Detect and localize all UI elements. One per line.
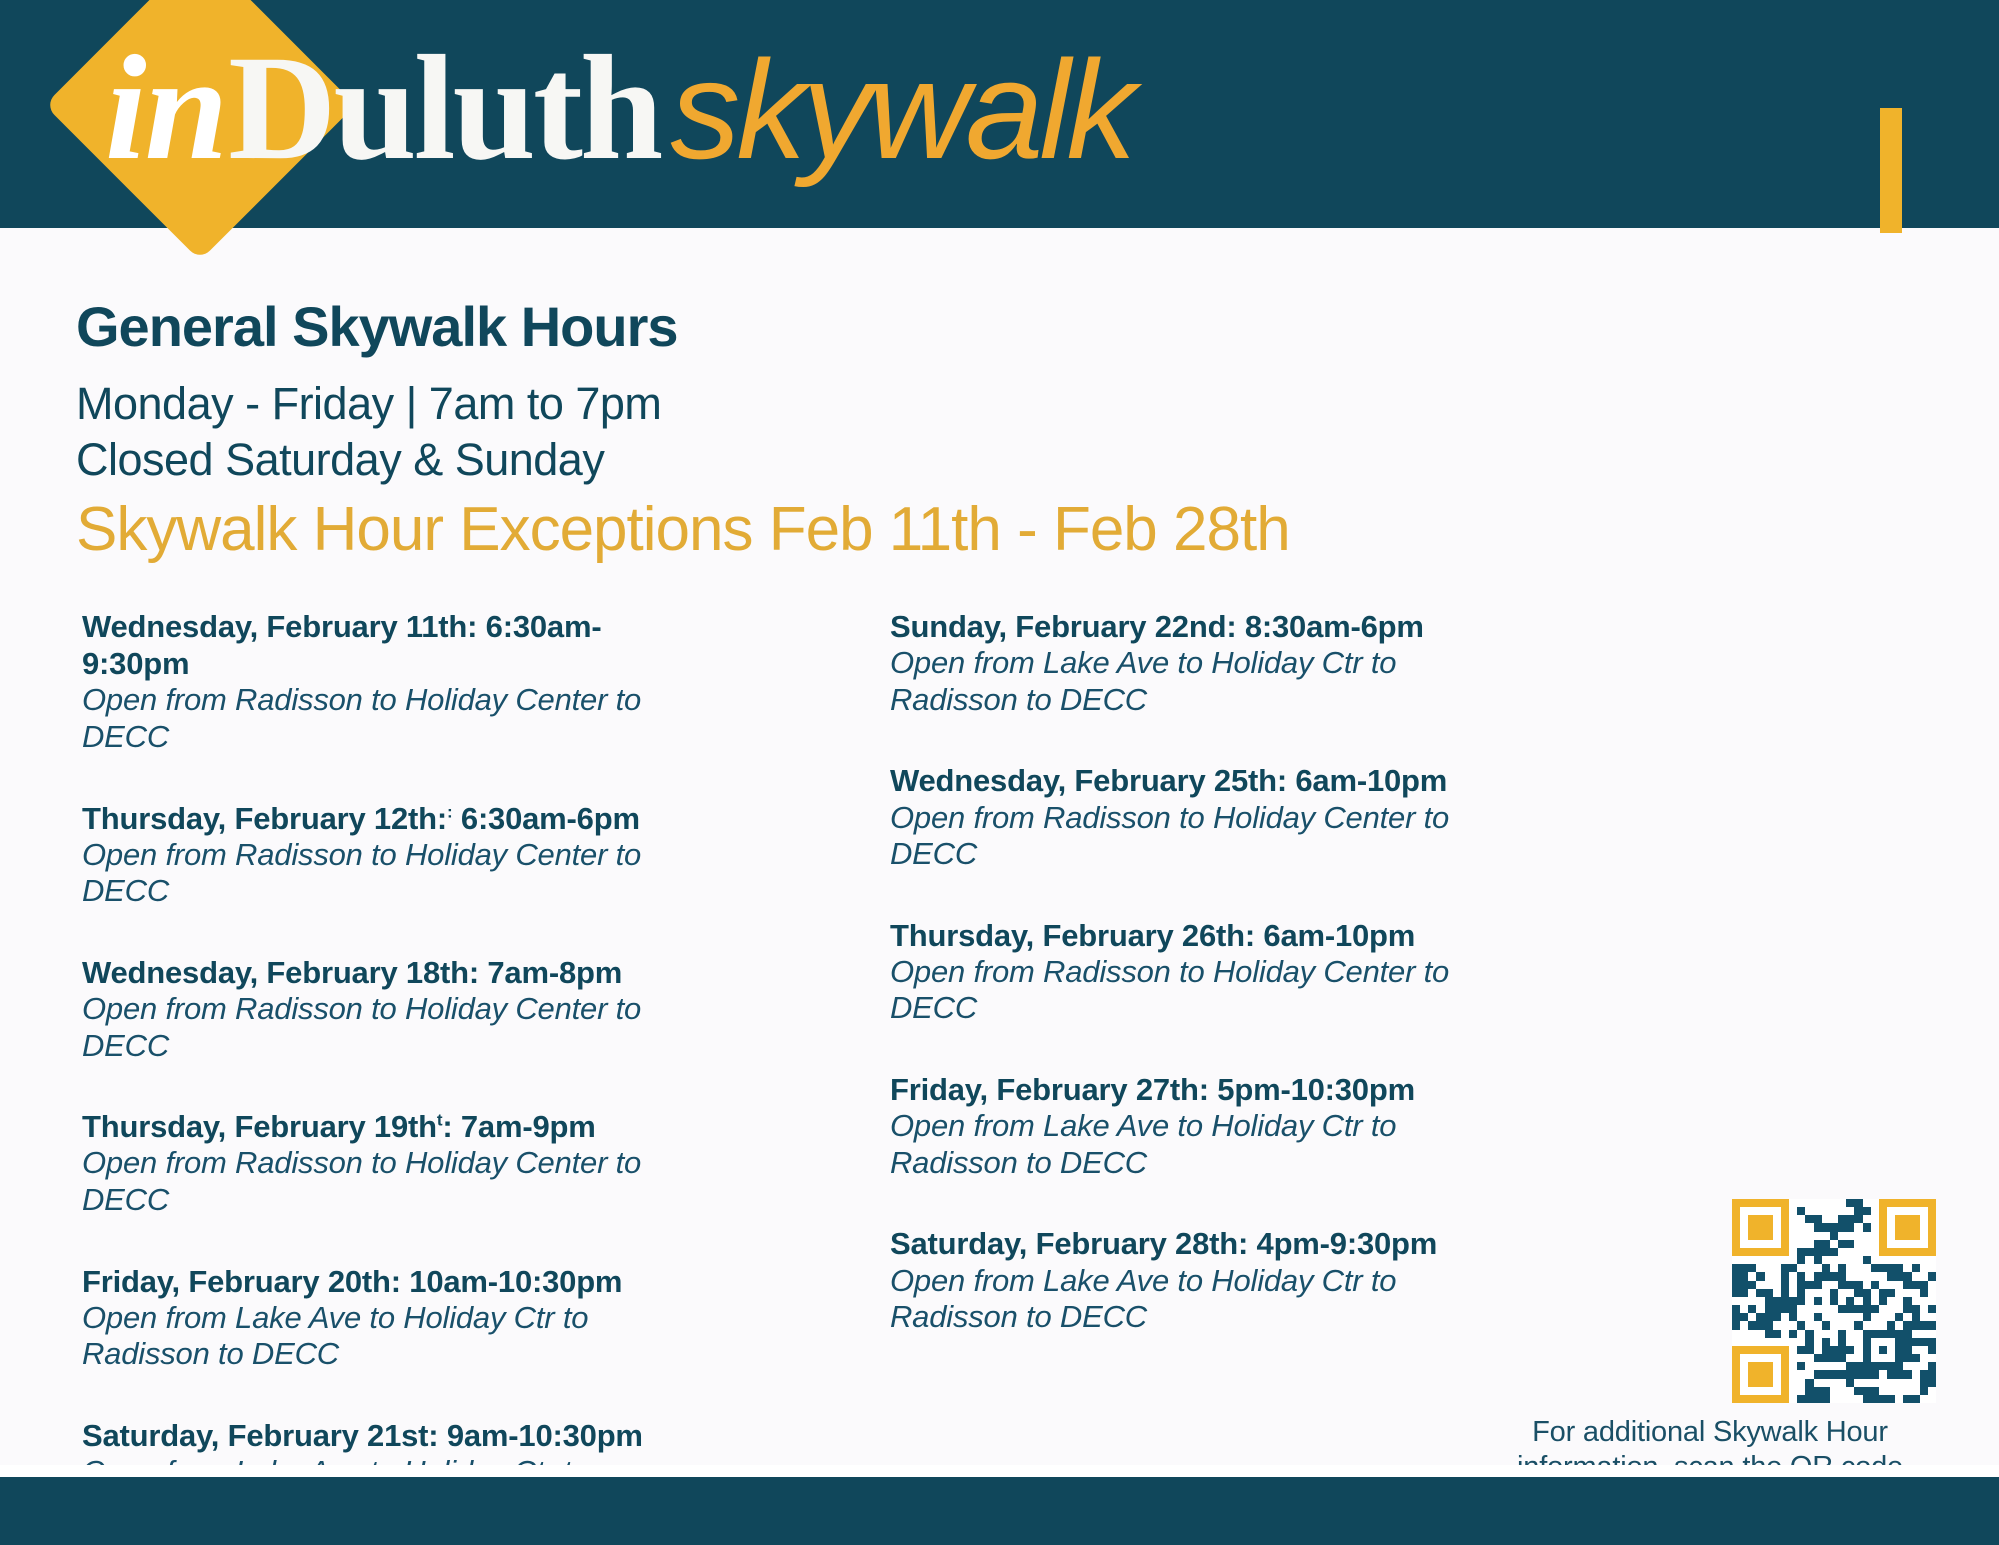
qr-module	[1895, 1248, 1903, 1256]
qr-module	[1805, 1321, 1813, 1329]
qr-module	[1920, 1264, 1928, 1272]
qr-module	[1756, 1354, 1764, 1362]
qr-module	[1740, 1199, 1748, 1207]
qr-module	[1781, 1272, 1789, 1280]
qr-module	[1748, 1272, 1756, 1280]
qr-module	[1781, 1370, 1789, 1378]
qr-module	[1797, 1362, 1805, 1370]
qr-module	[1822, 1215, 1830, 1223]
qr-module	[1805, 1207, 1813, 1215]
qr-module	[1773, 1330, 1781, 1338]
qr-module	[1765, 1272, 1773, 1280]
qr-module	[1863, 1354, 1871, 1362]
qr-module	[1797, 1281, 1805, 1289]
qr-module	[1732, 1362, 1740, 1370]
qr-module	[1928, 1207, 1936, 1215]
qr-module	[1928, 1281, 1936, 1289]
qr-module	[1887, 1232, 1895, 1240]
qr-module	[1912, 1199, 1920, 1207]
qr-code-icon[interactable]	[1732, 1199, 1936, 1403]
qr-module	[1887, 1321, 1895, 1329]
exception-day-hours: Friday, February 20th: 10am-10:30pm	[82, 1263, 692, 1300]
qr-module	[1732, 1232, 1740, 1240]
qr-module	[1903, 1395, 1911, 1403]
qr-module	[1863, 1387, 1871, 1395]
qr-module	[1830, 1362, 1838, 1370]
qr-module	[1903, 1207, 1911, 1215]
qr-module	[1838, 1330, 1846, 1338]
qr-module	[1805, 1248, 1813, 1256]
header-accent-bar	[1880, 108, 1902, 233]
qr-module	[1773, 1264, 1781, 1272]
qr-module	[1871, 1379, 1879, 1387]
qr-module	[1895, 1395, 1903, 1403]
qr-module	[1879, 1346, 1887, 1354]
qr-module	[1748, 1387, 1756, 1395]
exceptions-title: Skywalk Hour Exceptions Feb 11th - Feb 2…	[76, 494, 1290, 565]
qr-module	[1887, 1379, 1895, 1387]
qr-module	[1830, 1248, 1838, 1256]
qr-module	[1748, 1305, 1756, 1313]
qr-module	[1912, 1338, 1920, 1346]
qr-module	[1830, 1240, 1838, 1248]
qr-module	[1903, 1321, 1911, 1329]
qr-module	[1879, 1379, 1887, 1387]
qr-module	[1895, 1321, 1903, 1329]
qr-module	[1846, 1387, 1854, 1395]
qr-module	[1814, 1346, 1822, 1354]
exception-day-hours: Saturday, February 28th: 4pm-9:30pm	[890, 1225, 1530, 1262]
exception-day-hours: Thursday, February 12th:: 6:30am-6pm	[82, 800, 692, 837]
qr-module	[1797, 1264, 1805, 1272]
qr-module	[1920, 1281, 1928, 1289]
qr-module	[1830, 1264, 1838, 1272]
qr-module	[1895, 1289, 1903, 1297]
qr-module	[1797, 1330, 1805, 1338]
qr-module	[1895, 1199, 1903, 1207]
qr-module	[1879, 1338, 1887, 1346]
qr-module	[1846, 1313, 1854, 1321]
qr-module	[1863, 1338, 1871, 1346]
qr-module	[1863, 1395, 1871, 1403]
qr-module	[1789, 1370, 1797, 1378]
qr-module	[1863, 1248, 1871, 1256]
qr-module	[1928, 1370, 1936, 1378]
qr-module	[1895, 1272, 1903, 1280]
qr-module	[1879, 1370, 1887, 1378]
exception-route: Open from Lake Ave to Holiday Ctr to Rad…	[890, 645, 1530, 718]
qr-module	[1838, 1338, 1846, 1346]
logo-skywalk-text: skywalk	[670, 29, 1132, 191]
exception-day-hours: Wednesday, February 18th: 7am-8pm	[82, 954, 692, 991]
qr-module	[1863, 1215, 1871, 1223]
qr-module	[1822, 1272, 1830, 1280]
qr-module	[1903, 1223, 1911, 1231]
qr-module	[1740, 1354, 1748, 1362]
qr-module	[1797, 1395, 1805, 1403]
qr-module	[1920, 1199, 1928, 1207]
qr-module	[1740, 1240, 1748, 1248]
qr-module	[1814, 1240, 1822, 1248]
qr-module	[1912, 1330, 1920, 1338]
qr-module	[1912, 1223, 1920, 1231]
qr-module	[1789, 1297, 1797, 1305]
qr-module	[1903, 1248, 1911, 1256]
qr-module	[1797, 1338, 1805, 1346]
qr-module	[1740, 1207, 1748, 1215]
qr-module	[1756, 1297, 1764, 1305]
qr-module	[1912, 1305, 1920, 1313]
qr-module	[1756, 1338, 1764, 1346]
qr-module	[1773, 1362, 1781, 1370]
exception-route: Open from Radisson to Holiday Center to …	[82, 682, 692, 755]
qr-module	[1830, 1297, 1838, 1305]
qr-module	[1846, 1289, 1854, 1297]
qr-module	[1830, 1232, 1838, 1240]
qr-module	[1863, 1313, 1871, 1321]
qr-module	[1748, 1370, 1756, 1378]
qr-module	[1887, 1264, 1895, 1272]
qr-module	[1740, 1215, 1748, 1223]
qr-module	[1928, 1395, 1936, 1403]
qr-module	[1740, 1248, 1748, 1256]
qr-module	[1797, 1256, 1805, 1264]
qr-module	[1805, 1305, 1813, 1313]
qr-module	[1740, 1338, 1748, 1346]
qr-module	[1871, 1305, 1879, 1313]
qr-module	[1789, 1264, 1797, 1272]
qr-module	[1732, 1289, 1740, 1297]
qr-module	[1740, 1330, 1748, 1338]
qr-module	[1871, 1338, 1879, 1346]
qr-module	[1756, 1264, 1764, 1272]
qr-module	[1822, 1248, 1830, 1256]
qr-module	[1920, 1256, 1928, 1264]
qr-module	[1805, 1240, 1813, 1248]
qr-module	[1765, 1256, 1773, 1264]
qr-module	[1863, 1370, 1871, 1378]
qr-module	[1879, 1240, 1887, 1248]
qr-module	[1903, 1330, 1911, 1338]
exception-day-hours: Wednesday, February 11th: 6:30am-9:30pm	[82, 608, 692, 682]
qr-module	[1928, 1305, 1936, 1313]
exception-route: Open from Radisson to Holiday Center to …	[890, 954, 1530, 1027]
qr-module	[1781, 1379, 1789, 1387]
qr-module	[1797, 1321, 1805, 1329]
qr-module	[1805, 1362, 1813, 1370]
qr-module	[1781, 1354, 1789, 1362]
qr-module	[1895, 1281, 1903, 1289]
qr-module	[1854, 1395, 1862, 1403]
qr-module	[1879, 1289, 1887, 1297]
qr-module	[1732, 1207, 1740, 1215]
qr-module	[1789, 1321, 1797, 1329]
qr-module	[1871, 1362, 1879, 1370]
qr-module	[1895, 1313, 1903, 1321]
qr-module	[1854, 1232, 1862, 1240]
qr-module	[1912, 1248, 1920, 1256]
qr-module	[1773, 1297, 1781, 1305]
qr-module	[1920, 1207, 1928, 1215]
qr-module	[1756, 1199, 1764, 1207]
qr-module	[1830, 1395, 1838, 1403]
qr-module	[1928, 1313, 1936, 1321]
qr-module	[1789, 1330, 1797, 1338]
qr-module	[1732, 1223, 1740, 1231]
qr-module	[1740, 1346, 1748, 1354]
qr-module	[1887, 1346, 1895, 1354]
qr-module	[1854, 1199, 1862, 1207]
qr-module	[1781, 1207, 1789, 1215]
qr-module	[1781, 1395, 1789, 1403]
qr-module	[1903, 1272, 1911, 1280]
qr-module	[1814, 1321, 1822, 1329]
qr-module	[1887, 1387, 1895, 1395]
qr-module	[1805, 1272, 1813, 1280]
qr-module	[1765, 1321, 1773, 1329]
qr-module	[1765, 1264, 1773, 1272]
qr-module	[1846, 1330, 1854, 1338]
qr-module	[1805, 1215, 1813, 1223]
qr-module	[1814, 1223, 1822, 1231]
qr-module	[1773, 1289, 1781, 1297]
qr-module	[1773, 1223, 1781, 1231]
qr-module	[1903, 1264, 1911, 1272]
qr-module	[1887, 1305, 1895, 1313]
qr-module	[1846, 1362, 1854, 1370]
qr-module	[1830, 1272, 1838, 1280]
qr-module	[1846, 1240, 1854, 1248]
qr-module	[1732, 1338, 1740, 1346]
qr-module	[1773, 1321, 1781, 1329]
qr-module	[1765, 1232, 1773, 1240]
qr-module	[1789, 1223, 1797, 1231]
exception-superscript: t	[437, 1111, 442, 1130]
qr-module	[1756, 1313, 1764, 1321]
qr-module	[1756, 1207, 1764, 1215]
qr-module	[1854, 1223, 1862, 1231]
qr-module	[1740, 1223, 1748, 1231]
qr-module	[1846, 1297, 1854, 1305]
qr-module	[1740, 1387, 1748, 1395]
qr-module	[1830, 1354, 1838, 1362]
qr-module	[1903, 1281, 1911, 1289]
qr-module	[1789, 1338, 1797, 1346]
qr-module	[1928, 1354, 1936, 1362]
qr-module	[1830, 1305, 1838, 1313]
qr-module	[1863, 1346, 1871, 1354]
qr-module	[1748, 1379, 1756, 1387]
qr-module	[1838, 1387, 1846, 1395]
qr-module	[1756, 1215, 1764, 1223]
qr-module	[1903, 1370, 1911, 1378]
brand-logo: inDuluthskywalk	[105, 22, 1132, 202]
logo-in-text: in	[105, 22, 226, 194]
qr-module	[1814, 1289, 1822, 1297]
qr-module	[1928, 1289, 1936, 1297]
qr-module	[1912, 1379, 1920, 1387]
qr-module	[1789, 1289, 1797, 1297]
qr-module	[1830, 1223, 1838, 1231]
qr-module	[1912, 1354, 1920, 1362]
qr-module	[1822, 1199, 1830, 1207]
qr-module	[1789, 1354, 1797, 1362]
qr-module	[1822, 1223, 1830, 1231]
qr-module	[1920, 1232, 1928, 1240]
qr-module	[1887, 1289, 1895, 1297]
qr-module	[1814, 1215, 1822, 1223]
qr-module	[1830, 1330, 1838, 1338]
exception-route: Open from Radisson to Holiday Center to …	[890, 800, 1530, 873]
qr-module	[1822, 1321, 1830, 1329]
qr-module	[1789, 1240, 1797, 1248]
qr-module	[1765, 1289, 1773, 1297]
qr-module	[1732, 1346, 1740, 1354]
qr-module	[1838, 1223, 1846, 1231]
qr-module	[1756, 1395, 1764, 1403]
exception-day-hours: Saturday, February 21st: 9am-10:30pm	[82, 1417, 692, 1454]
qr-module	[1765, 1199, 1773, 1207]
exception-day-hours: Thursday, February 26th: 6am-10pm	[890, 917, 1530, 954]
qr-module	[1805, 1297, 1813, 1305]
qr-module	[1920, 1215, 1928, 1223]
qr-module	[1773, 1370, 1781, 1378]
qr-module	[1903, 1346, 1911, 1354]
qr-module	[1920, 1387, 1928, 1395]
qr-module	[1895, 1354, 1903, 1362]
qr-module	[1928, 1338, 1936, 1346]
qr-module	[1920, 1289, 1928, 1297]
qr-module	[1732, 1256, 1740, 1264]
qr-module	[1822, 1354, 1830, 1362]
qr-module	[1920, 1305, 1928, 1313]
qr-module	[1895, 1346, 1903, 1354]
qr-module	[1895, 1256, 1903, 1264]
qr-module	[1781, 1281, 1789, 1289]
exception-route: Open from Lake Ave to Holiday Ctr to Rad…	[890, 1108, 1530, 1181]
qr-module	[1912, 1297, 1920, 1305]
qr-module	[1789, 1199, 1797, 1207]
qr-module	[1903, 1240, 1911, 1248]
qr-module	[1879, 1199, 1887, 1207]
qr-module	[1740, 1297, 1748, 1305]
qr-module	[1920, 1272, 1928, 1280]
qr-module	[1756, 1346, 1764, 1354]
qr-module	[1748, 1330, 1756, 1338]
qr-module	[1748, 1281, 1756, 1289]
qr-module	[1756, 1272, 1764, 1280]
exceptions-right-column: Sunday, February 22nd: 8:30am-6pmOpen fr…	[890, 608, 1530, 1336]
qr-module	[1871, 1354, 1879, 1362]
qr-module	[1740, 1379, 1748, 1387]
qr-module	[1838, 1281, 1846, 1289]
qr-module	[1838, 1305, 1846, 1313]
qr-module	[1830, 1346, 1838, 1354]
qr-module	[1912, 1215, 1920, 1223]
qr-module	[1854, 1215, 1862, 1223]
qr-module	[1879, 1272, 1887, 1280]
qr-module	[1740, 1370, 1748, 1378]
qr-module	[1928, 1387, 1936, 1395]
qr-module	[1765, 1395, 1773, 1403]
qr-module	[1887, 1199, 1895, 1207]
qr-module	[1912, 1370, 1920, 1378]
qr-module	[1781, 1215, 1789, 1223]
qr-module	[1805, 1370, 1813, 1378]
qr-module	[1871, 1264, 1879, 1272]
qr-module	[1912, 1362, 1920, 1370]
qr-module	[1814, 1199, 1822, 1207]
qr-module	[1887, 1256, 1895, 1264]
qr-module	[1805, 1289, 1813, 1297]
qr-module	[1740, 1313, 1748, 1321]
qr-module	[1879, 1297, 1887, 1305]
footer-band	[0, 1477, 1999, 1545]
qr-module	[1805, 1281, 1813, 1289]
qr-module	[1846, 1395, 1854, 1403]
qr-module	[1838, 1354, 1846, 1362]
qr-module	[1740, 1321, 1748, 1329]
qr-module	[1789, 1362, 1797, 1370]
qr-module	[1854, 1248, 1862, 1256]
qr-module	[1879, 1313, 1887, 1321]
qr-module	[1895, 1240, 1903, 1248]
qr-module	[1871, 1215, 1879, 1223]
qr-module	[1887, 1281, 1895, 1289]
qr-module	[1830, 1313, 1838, 1321]
qr-module	[1863, 1207, 1871, 1215]
qr-module	[1903, 1297, 1911, 1305]
qr-module	[1797, 1387, 1805, 1395]
qr-module	[1756, 1232, 1764, 1240]
qr-module	[1838, 1395, 1846, 1403]
qr-module	[1854, 1207, 1862, 1215]
qr-code-grid	[1732, 1199, 1936, 1403]
qr-module	[1805, 1346, 1813, 1354]
qr-module	[1789, 1272, 1797, 1280]
qr-module	[1920, 1248, 1928, 1256]
qr-module	[1838, 1346, 1846, 1354]
qr-module	[1765, 1223, 1773, 1231]
qr-module	[1903, 1215, 1911, 1223]
qr-module	[1871, 1256, 1879, 1264]
qr-module	[1887, 1338, 1895, 1346]
qr-module	[1740, 1256, 1748, 1264]
qr-module	[1871, 1313, 1879, 1321]
qr-module	[1838, 1379, 1846, 1387]
qr-module	[1887, 1223, 1895, 1231]
weekday-hours: Monday - Friday | 7am to 7pm	[76, 378, 661, 430]
qr-module	[1838, 1370, 1846, 1378]
qr-module	[1879, 1305, 1887, 1313]
qr-module	[1781, 1346, 1789, 1354]
qr-module	[1732, 1370, 1740, 1378]
qr-module	[1830, 1281, 1838, 1289]
qr-module	[1748, 1199, 1756, 1207]
qr-module	[1789, 1379, 1797, 1387]
qr-module	[1863, 1232, 1871, 1240]
qr-module	[1797, 1272, 1805, 1280]
qr-module	[1814, 1387, 1822, 1395]
qr-module	[1928, 1240, 1936, 1248]
qr-module	[1814, 1379, 1822, 1387]
qr-module	[1789, 1346, 1797, 1354]
qr-module	[1732, 1215, 1740, 1223]
qr-module	[1912, 1395, 1920, 1403]
qr-module	[1920, 1223, 1928, 1231]
qr-module	[1789, 1395, 1797, 1403]
qr-module	[1822, 1330, 1830, 1338]
